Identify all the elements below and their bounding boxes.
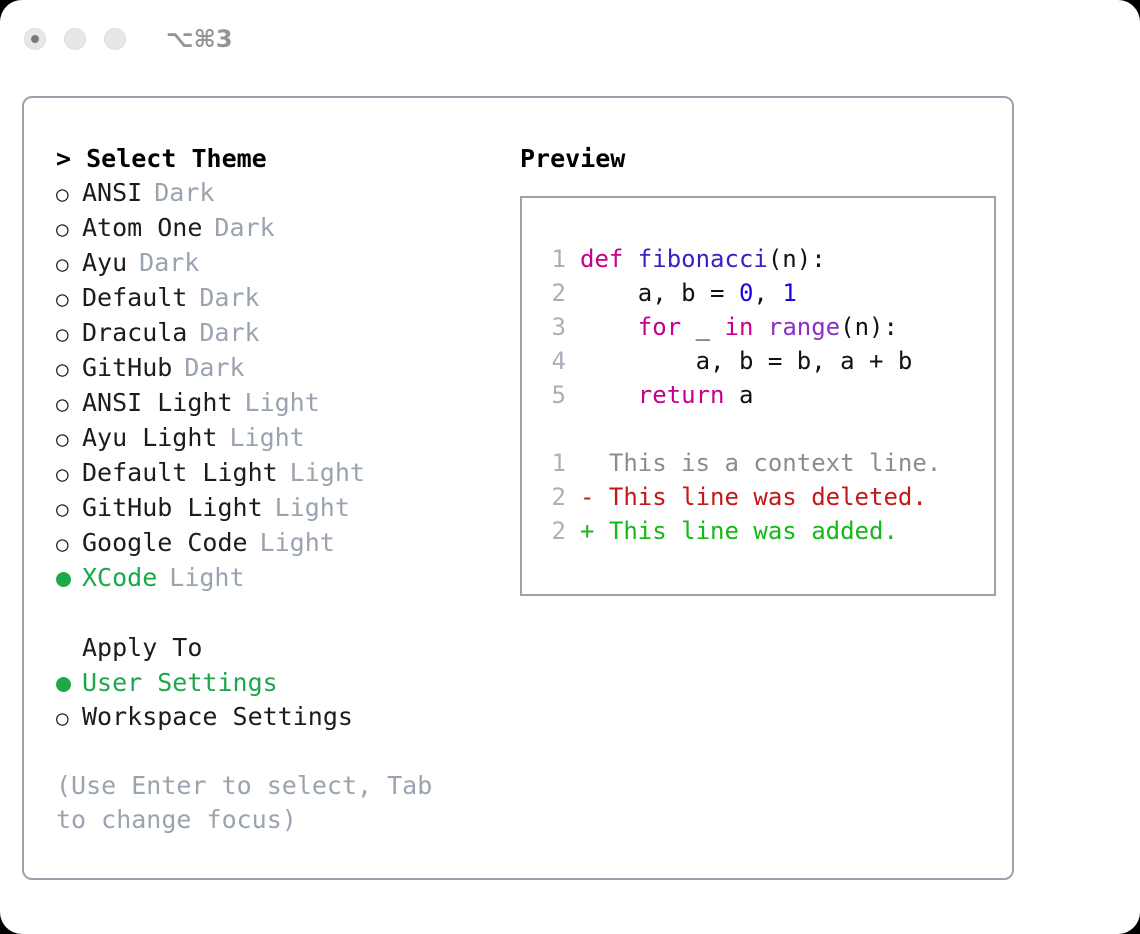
theme-option-variant-tag: Light <box>233 386 320 420</box>
code-token-kw: for <box>638 313 681 341</box>
code-sample: 1def fibonacci(n):2 a, b = 0, 13 for _ i… <box>544 242 994 412</box>
theme-option-variant-tag: Light <box>157 561 244 595</box>
theme-option-row[interactable]: ○DefaultDark <box>56 281 500 316</box>
radio-unselected-icon[interactable]: ○ <box>56 317 82 351</box>
app-window: ⌥⌘3 > Select Theme ○ANSIDark○Atom OneDar… <box>0 0 1140 934</box>
radio-unselected-icon[interactable]: ○ <box>56 177 82 211</box>
preview-pane: Preview 1def fibonacci(n):2 a, b = 0, 13… <box>500 142 1012 878</box>
theme-option-variant-tag: Dark <box>127 246 199 280</box>
code-token-pl: a <box>725 381 754 409</box>
code-token-pl: a, b = b, a + b <box>580 347 912 375</box>
radio-unselected-icon[interactable]: ○ <box>56 527 82 561</box>
theme-list: ○ANSIDark○Atom OneDark○AyuDark○DefaultDa… <box>56 176 500 595</box>
code-line: 4 a, b = b, a + b <box>544 344 994 378</box>
preview-title: Preview <box>520 142 1012 176</box>
theme-option-row[interactable]: ●XCodeLight <box>56 561 500 595</box>
radio-unselected-icon[interactable]: ○ <box>56 701 82 735</box>
theme-option-variant-tag: Light <box>278 456 365 490</box>
radio-unselected-icon[interactable]: ○ <box>56 282 82 316</box>
theme-option-label: Atom One <box>82 211 202 245</box>
theme-option-row[interactable]: ○Ayu LightLight <box>56 421 500 456</box>
theme-option-variant-tag: Dark <box>187 316 259 350</box>
code-token-pl <box>580 381 638 409</box>
radio-unselected-icon[interactable]: ○ <box>56 247 82 281</box>
theme-option-row[interactable]: ○ANSI LightLight <box>56 386 500 421</box>
theme-option-row[interactable]: ○Atom OneDark <box>56 211 500 246</box>
radio-unselected-icon[interactable]: ○ <box>56 422 82 456</box>
theme-option-label: Default <box>82 281 187 315</box>
diff-line: 2+ This line was added. <box>544 514 994 548</box>
code-token-pl: _ <box>681 313 724 341</box>
theme-option-row[interactable]: ○ANSIDark <box>56 176 500 211</box>
diff-sign: - <box>580 483 594 511</box>
diff-line-number: 2 <box>544 514 566 548</box>
code-token-kw: return <box>638 381 725 409</box>
code-line-number: 3 <box>544 310 566 344</box>
window-dot-2-icon[interactable] <box>64 28 86 50</box>
code-token-pl: a, b = <box>580 279 739 307</box>
keyboard-hint-text: (Use Enter to select, Tab to change focu… <box>56 769 476 837</box>
theme-option-row[interactable]: ○Default LightLight <box>56 456 500 491</box>
theme-option-variant-tag: Light <box>217 421 304 455</box>
theme-option-label: Dracula <box>82 316 187 350</box>
code-line: 1def fibonacci(n): <box>544 242 994 276</box>
apply-to-option-row[interactable]: ○Workspace Settings <box>56 700 500 735</box>
code-line: 5 return a <box>544 378 994 412</box>
theme-option-label: ANSI <box>82 176 142 210</box>
radio-unselected-icon[interactable]: ○ <box>56 212 82 246</box>
code-token-fn: fibonacci <box>638 245 768 273</box>
code-token-pl <box>580 313 638 341</box>
apply-to-header-row: Apply To <box>56 631 500 666</box>
window-dot-3-icon[interactable] <box>104 28 126 50</box>
theme-option-variant-tag: Light <box>248 526 335 560</box>
theme-option-label: XCode <box>82 561 157 595</box>
theme-option-row[interactable]: ○GitHub LightLight <box>56 491 500 526</box>
radio-unselected-icon[interactable]: ○ <box>56 352 82 386</box>
preview-box: 1def fibonacci(n):2 a, b = 0, 13 for _ i… <box>520 196 996 596</box>
diff-sample: 1 This is a context line.2- This line wa… <box>544 446 994 548</box>
theme-option-row[interactable]: ○DraculaDark <box>56 316 500 351</box>
apply-to-header-label: Apply To <box>82 631 202 665</box>
diff-line: 2- This line was deleted. <box>544 480 994 514</box>
code-token-kw: in <box>725 313 754 341</box>
apply-to-option-row[interactable]: ●User Settings <box>56 666 500 700</box>
diff-sign <box>580 449 594 477</box>
theme-option-label: GitHub Light <box>82 491 263 525</box>
theme-option-variant-tag: Dark <box>202 211 274 245</box>
apply-to-option-label: User Settings <box>82 666 278 700</box>
window-dot-active-indicator <box>31 35 39 43</box>
diff-line-number: 2 <box>544 480 566 514</box>
theme-option-row[interactable]: ○GitHubDark <box>56 351 500 386</box>
radio-unselected-icon[interactable]: ○ <box>56 387 82 421</box>
theme-picker-card: > Select Theme ○ANSIDark○Atom OneDark○Ay… <box>22 96 1014 880</box>
code-line: 2 a, b = 0, 1 <box>544 276 994 310</box>
apply-to-option-label: Workspace Settings <box>82 700 353 734</box>
theme-option-variant-tag: Dark <box>187 281 259 315</box>
theme-option-label: GitHub <box>82 351 172 385</box>
code-line-number: 5 <box>544 378 566 412</box>
theme-selection-pane: > Select Theme ○ANSIDark○Atom OneDark○Ay… <box>40 142 500 878</box>
theme-option-row[interactable]: ○Google CodeLight <box>56 526 500 561</box>
theme-option-row[interactable]: ○AyuDark <box>56 246 500 281</box>
pane-spacer <box>56 595 500 631</box>
code-token-pl: , <box>753 279 782 307</box>
code-token-num: 0 <box>739 279 753 307</box>
theme-option-label: Ayu <box>82 246 127 280</box>
title-bar: ⌥⌘3 <box>0 0 1140 78</box>
theme-option-label: Google Code <box>82 526 248 560</box>
diff-line: 1 This is a context line. <box>544 446 994 480</box>
code-token-num: 1 <box>782 279 796 307</box>
theme-option-label: Default Light <box>82 456 278 490</box>
diff-line-text: This line was deleted. <box>594 483 926 511</box>
diff-line-number: 1 <box>544 446 566 480</box>
apply-to-header-marker <box>56 632 82 666</box>
keyboard-shortcut-label: ⌥⌘3 <box>166 25 233 53</box>
code-token-pl: (n): <box>768 245 826 273</box>
diff-line-text: This line was added. <box>594 517 897 545</box>
code-line-number: 1 <box>544 242 566 276</box>
select-theme-header: > Select Theme <box>56 142 500 176</box>
code-line: 3 for _ in range(n): <box>544 310 994 344</box>
diff-line-text: This is a context line. <box>594 449 941 477</box>
code-token-bif: range <box>768 313 840 341</box>
code-line-number: 2 <box>544 276 566 310</box>
code-token-kw: def <box>580 245 638 273</box>
apply-to-list: ●User Settings○Workspace Settings <box>56 666 500 735</box>
theme-option-label: Ayu Light <box>82 421 217 455</box>
diff-sign: + <box>580 517 594 545</box>
theme-option-variant-tag: Dark <box>142 176 214 210</box>
code-line-number: 4 <box>544 344 566 378</box>
code-token-pl: (n): <box>840 313 898 341</box>
window-dot-1-icon[interactable] <box>24 28 46 50</box>
radio-unselected-icon[interactable]: ○ <box>56 457 82 491</box>
theme-option-label: ANSI Light <box>82 386 233 420</box>
diff-spacer <box>544 412 994 446</box>
radio-selected-icon[interactable]: ● <box>56 561 82 595</box>
radio-selected-icon[interactable]: ● <box>56 666 82 700</box>
radio-unselected-icon[interactable]: ○ <box>56 492 82 526</box>
hint-spacer <box>56 735 500 769</box>
code-token-pl <box>753 313 767 341</box>
window-controls <box>24 28 126 50</box>
theme-option-variant-tag: Light <box>263 491 350 525</box>
theme-option-variant-tag: Dark <box>172 351 244 385</box>
